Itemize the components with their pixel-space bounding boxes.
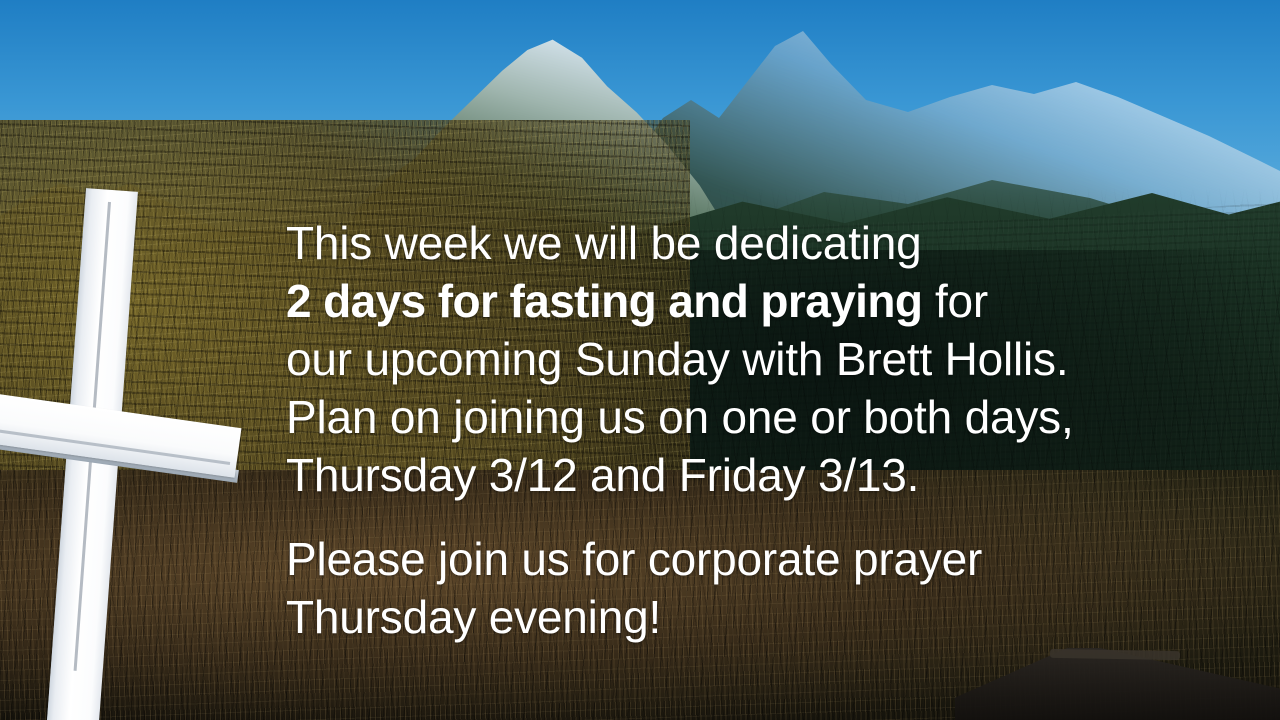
message-text: This week we will be dedicating <box>286 217 922 269</box>
message-line: 2 days for fasting and praying for <box>286 272 1246 330</box>
announcement-text: This week we will be dedicating2 days fo… <box>286 214 1246 646</box>
message-text: for <box>922 275 988 327</box>
message-text: Plan on joining us on one or both days, <box>286 391 1074 443</box>
message-paragraph: This week we will be dedicating2 days fo… <box>286 214 1246 504</box>
message-paragraph: Please join us for corporate prayerThurs… <box>286 530 1246 646</box>
message-line: Thursday 3/12 and Friday 3/13. <box>286 446 1246 504</box>
message-text: Thursday 3/12 and Friday 3/13. <box>286 449 919 501</box>
highlight-phrase: 2 days for fasting and praying <box>286 275 922 327</box>
message-text: Please join us for corporate prayer <box>286 533 982 585</box>
announcement-slide: This week we will be dedicating2 days fo… <box>0 0 1280 720</box>
message-line: Please join us for corporate prayer <box>286 530 1246 588</box>
message-text: Thursday evening! <box>286 591 661 643</box>
message-line: Plan on joining us on one or both days, <box>286 388 1246 446</box>
message-line: our upcoming Sunday with Brett Hollis. <box>286 330 1246 388</box>
message-text: our upcoming Sunday with Brett Hollis. <box>286 333 1068 385</box>
message-line: This week we will be dedicating <box>286 214 1246 272</box>
message-line: Thursday evening! <box>286 588 1246 646</box>
